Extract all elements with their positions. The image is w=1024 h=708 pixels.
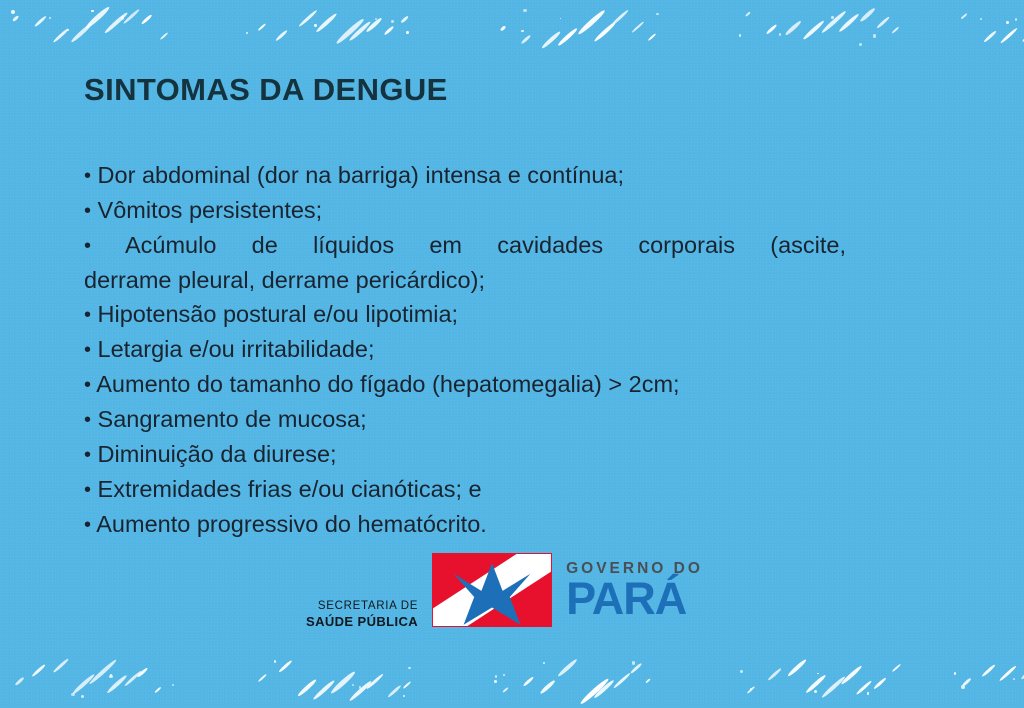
hatch-speckle: [375, 18, 377, 20]
list-item-label: Diminuição da diurese;: [98, 441, 337, 467]
hatch-dash: [258, 674, 268, 683]
hatch-dash: [767, 668, 781, 681]
hatch-dash: [298, 9, 318, 27]
hatch-speckle: [403, 695, 405, 697]
hatch-speckle: [49, 17, 51, 19]
hatch-dash: [838, 13, 860, 33]
hatch-dash: [539, 679, 556, 695]
list-item-label: Dor abdominal (dor na barriga) intensa e…: [98, 162, 624, 188]
hatch-dash: [33, 16, 46, 28]
hatch-speckle: [954, 672, 957, 675]
secretaria-line-1: SECRETARIA DE: [306, 599, 418, 614]
hatch-dash: [961, 678, 971, 687]
hatch-speckle: [603, 32, 606, 35]
secretaria-line-2: SAÚDE PÚBLICA: [306, 614, 418, 630]
hatch-dash: [88, 659, 117, 686]
hatch-dash: [297, 679, 317, 698]
hatch-dash: [787, 658, 807, 677]
hatch-dash: [747, 686, 756, 694]
hatch-dash: [859, 7, 875, 22]
bullet-icon: •: [84, 304, 91, 326]
hatch-dash: [366, 673, 384, 690]
hatch-dash: [611, 9, 630, 26]
list-item-label-line-1: • Acúmulo de líquidos em cavidades corpo…: [84, 228, 846, 263]
hatch-dash: [348, 20, 372, 42]
hatch-dash: [557, 658, 578, 677]
hatch-dash: [593, 21, 616, 42]
hatch-dash: [877, 16, 891, 29]
decorative-hatch-band-top: [0, 0, 1024, 56]
hatch-speckle: [11, 10, 15, 14]
list-item: • Diminuição da diurese;: [84, 437, 846, 472]
list-item-label: Hipotensão postural e/ou lipotimia;: [98, 301, 459, 327]
list-item: • Aumento progressivo do hematócrito.: [84, 507, 846, 542]
hatch-dash: [154, 686, 161, 693]
hatch-dash: [31, 663, 46, 676]
list-item: • Acúmulo de líquidos em cavidades corpo…: [84, 228, 846, 297]
hatch-speckle: [521, 30, 523, 32]
hatch-dash: [12, 15, 19, 22]
hatch-dash: [856, 679, 873, 695]
hatch-dash: [645, 678, 651, 683]
list-item-label-line-2: derrame pleural, derrame pericárdico);: [84, 263, 846, 297]
hatch-dash: [629, 662, 641, 673]
hatch-dash: [71, 673, 96, 696]
hatch-dash: [330, 670, 357, 695]
governo-do-para-wordmark: GOVERNO DO PARÁ: [566, 561, 703, 619]
hatch-dash: [805, 674, 827, 694]
hatch-speckle: [67, 29, 69, 31]
hatch-dash: [502, 687, 508, 693]
list-item-label: Aumento progressivo do hematócrito.: [96, 511, 487, 537]
hatch-dash: [348, 680, 372, 702]
hatch-speckle: [523, 9, 526, 12]
list-item-text-line-1: Acúmulo de líquidos em cavidades corpora…: [125, 232, 846, 258]
hatch-dash: [123, 8, 141, 24]
hatch-speckle: [494, 680, 497, 683]
hatch-speckle: [560, 18, 562, 20]
hatch-speckle: [406, 31, 409, 34]
list-item-label: Vômitos persistentes;: [98, 197, 323, 223]
hatch-speckle: [750, 688, 752, 690]
hatch-dash: [613, 672, 631, 689]
hatch-speckle: [779, 33, 781, 35]
hatch-dash: [500, 25, 506, 31]
governo-line-2: PARÁ: [566, 578, 703, 619]
hatch-dash: [577, 9, 606, 36]
hatch-dash: [557, 27, 578, 46]
hatch-speckle: [656, 13, 658, 15]
hatch-speckle: [274, 660, 277, 663]
hatch-dash: [891, 26, 899, 34]
bullet-icon: •: [84, 514, 91, 536]
list-item: • Sangramento de mucosa;: [84, 402, 846, 437]
hatch-speckle: [81, 695, 84, 698]
hatch-dash: [785, 19, 802, 35]
para-state-flag-icon: [432, 553, 552, 627]
hatch-speckle: [1006, 21, 1010, 25]
hatch-speckle: [503, 674, 505, 676]
hatch-dash: [766, 24, 777, 34]
bullet-icon: •: [84, 479, 91, 501]
hatch-speckle: [314, 24, 316, 26]
hatch-dash: [403, 681, 412, 689]
hatch-dash: [802, 20, 825, 41]
symptom-list: • Dor abdominal (dor na barriga) intensa…: [84, 158, 846, 542]
hatch-dash: [70, 23, 92, 44]
hatch-speckle: [867, 692, 870, 695]
hatch-speckle: [71, 693, 74, 696]
hatch-dash: [258, 22, 267, 31]
hatch-speckle: [121, 16, 125, 20]
hatch-dash: [365, 17, 382, 33]
list-item: • Extremidades frias e/ou cianóticas; e: [84, 472, 846, 507]
hatch-speckle: [739, 34, 742, 37]
list-item-label: Aumento do tamanho do fígado (hepatomega…: [96, 371, 679, 397]
list-item: • Aumento do tamanho do fígado (hepatome…: [84, 367, 846, 402]
hatch-speckle: [859, 43, 862, 46]
hatch-speckle: [246, 32, 248, 34]
hatch-dash: [522, 676, 534, 687]
hatch-speckle: [408, 667, 411, 670]
list-item-label: Sangramento de mucosa;: [98, 406, 367, 432]
list-item: • Letargia e/ou irritabilidade;: [84, 332, 846, 367]
hatch-dash: [961, 13, 968, 19]
hatch-dash: [123, 670, 141, 687]
hatch-dash: [520, 34, 531, 44]
hatch-speckle: [391, 20, 394, 23]
hatch-dash: [137, 667, 149, 678]
hatch-dash: [821, 675, 847, 699]
poster-canvas: SINTOMAS DA DENGUE • Dor abdominal (dor …: [0, 0, 1024, 708]
hatch-speckle: [110, 674, 112, 676]
list-item: • Vômitos persistentes;: [84, 193, 846, 228]
bullet-icon: •: [84, 235, 91, 257]
hatch-dash: [141, 14, 152, 25]
hatch-dash: [631, 21, 645, 34]
hatch-dash: [579, 677, 609, 705]
hatch-speckle: [980, 18, 983, 21]
footer-logo-lockup: SECRETARIA DE SAÚDE PÚBLICA GOVERNO DO P…: [306, 548, 703, 632]
bullet-icon: •: [84, 444, 91, 466]
hatch-dash: [315, 12, 337, 33]
hatch-dash: [312, 679, 336, 701]
hatch-dash: [85, 5, 111, 30]
hatch-speckle: [873, 34, 876, 37]
hatch-dash: [401, 15, 409, 23]
hatch-speckle: [814, 690, 817, 693]
hatch-dash: [891, 664, 900, 673]
bullet-icon: •: [84, 339, 91, 361]
hatch-dash: [278, 660, 292, 673]
hatch-dash: [873, 677, 887, 690]
hatch-dash: [103, 11, 127, 34]
hatch-dash: [106, 673, 128, 694]
hatch-dash: [592, 679, 614, 700]
hatch-speckle: [1015, 18, 1018, 21]
bullet-icon: •: [84, 409, 91, 431]
hatch-dash: [648, 33, 657, 42]
hatch-dash: [275, 29, 288, 41]
hatch-speckle: [1013, 678, 1015, 680]
hatch-speckle: [91, 10, 94, 13]
hatch-dash: [981, 664, 996, 678]
hatch-dash: [52, 28, 69, 44]
hatch-dash: [999, 665, 1017, 682]
hatch-dash: [1000, 27, 1018, 44]
list-item-label: Extremidades frias e/ou cianóticas; e: [98, 476, 482, 502]
list-item-label: Letargia e/ou irritabilidade;: [98, 336, 375, 362]
hatch-dash: [383, 25, 394, 35]
hatch-speckle: [632, 661, 636, 665]
hatch-speckle: [352, 684, 354, 686]
bullet-icon: •: [84, 374, 91, 396]
hatch-dash: [745, 11, 751, 17]
hatch-speckle: [961, 685, 965, 689]
hatch-dash: [541, 30, 561, 49]
decorative-hatch-band-bottom: [0, 652, 1024, 708]
hatch-dash: [52, 658, 69, 674]
hatch-speckle: [172, 684, 174, 686]
hatch-dash: [14, 677, 24, 686]
hatch-dash: [1020, 660, 1024, 681]
hatch-speckle: [831, 16, 834, 19]
hatch-speckle: [740, 670, 743, 673]
hatch-dash: [840, 664, 863, 685]
page-title: SINTOMAS DA DENGUE: [84, 72, 448, 108]
hatch-dash: [983, 30, 997, 43]
bullet-icon: •: [84, 200, 91, 222]
secretaria-saude-publica-wordmark: SECRETARIA DE SAÚDE PÚBLICA: [306, 599, 418, 632]
hatch-dash: [387, 684, 401, 697]
hatch-speckle: [495, 675, 497, 677]
list-item: • Hipotensão postural e/ou lipotimia;: [84, 297, 846, 332]
hatch-speckle: [359, 686, 362, 689]
hatch-speckle: [109, 675, 112, 678]
hatch-speckle: [817, 673, 819, 675]
bullet-icon: •: [84, 165, 91, 187]
hatch-dash: [335, 17, 365, 44]
hatch-dash: [821, 10, 847, 34]
list-item: • Dor abdominal (dor na barriga) intensa…: [84, 158, 846, 193]
hatch-speckle: [961, 17, 963, 19]
hatch-speckle: [543, 662, 545, 664]
hatch-dash: [160, 32, 169, 40]
